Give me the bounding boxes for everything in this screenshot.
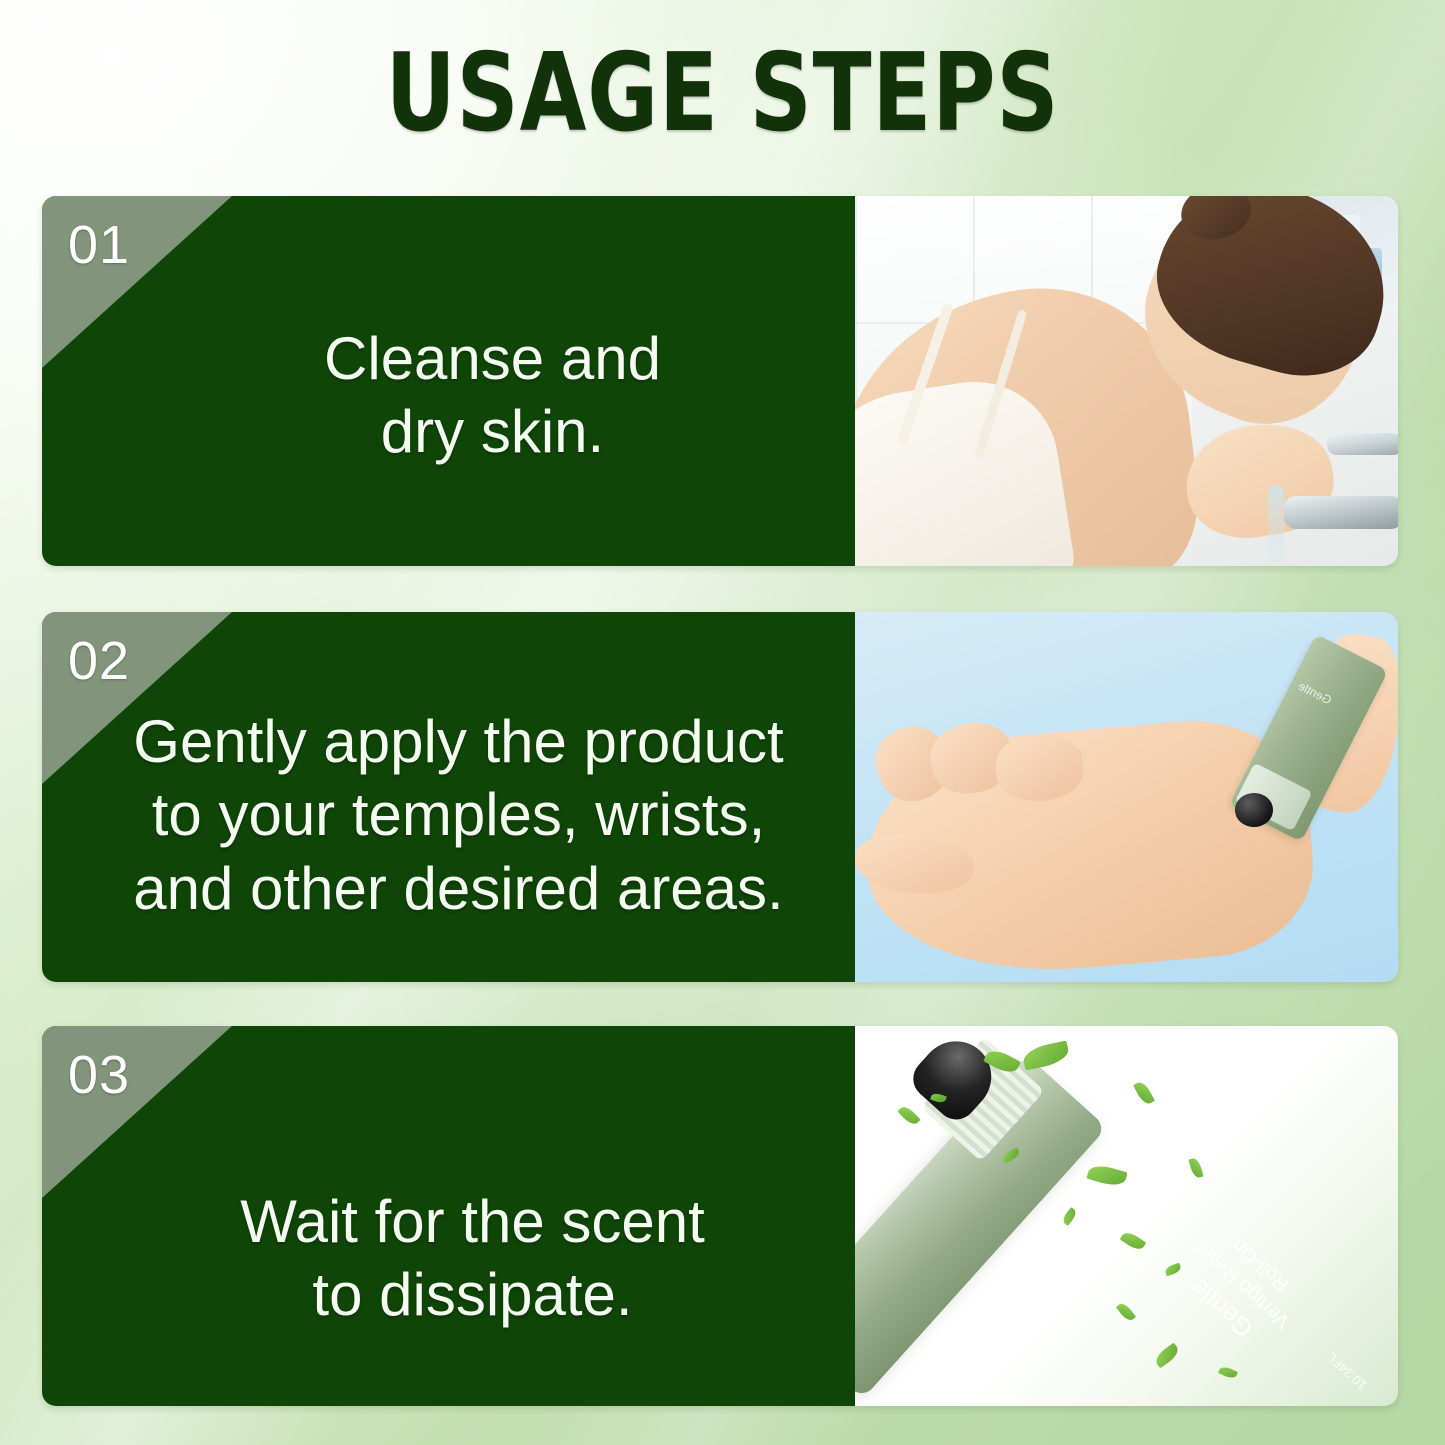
step-2-line-2: to your temples, wrists, xyxy=(133,778,783,851)
faucet-lower xyxy=(1284,496,1398,529)
leaf-12 xyxy=(1152,1343,1181,1369)
leaf-4 xyxy=(1133,1079,1155,1106)
step-2-instruction: Gently apply the product to your temples… xyxy=(105,705,811,925)
step-1-number: 01 xyxy=(68,214,130,276)
usage-step-card-3: 03 Wait for the scent to dissipate. Gent… xyxy=(42,1026,1398,1406)
leaf-14 xyxy=(1218,1365,1238,1381)
rollon-ball-applicator xyxy=(1235,793,1273,826)
bottle-label-volume: 10.34FL xyxy=(1324,1350,1369,1393)
step-2-line-3: and other desired areas. xyxy=(133,852,783,925)
step-3-line-2: to dissipate. xyxy=(240,1258,705,1331)
leaf-9 xyxy=(1120,1229,1147,1252)
step-3-text-panel: 03 Wait for the scent to dissipate. xyxy=(42,1026,855,1406)
leaf-6 xyxy=(1087,1162,1128,1189)
step-1-text-panel: 01 Cleanse and dry skin. xyxy=(42,196,855,566)
faucet-upper xyxy=(1327,433,1398,455)
step-2-text-panel: 02 Gently apply the product to your temp… xyxy=(42,612,855,982)
step-3-instruction: Wait for the scent to dissipate. xyxy=(212,1185,733,1331)
woman-washing-face-photo xyxy=(855,196,1398,566)
step-2-number: 02 xyxy=(68,630,130,692)
applying-rollon-to-hand-photo: Gentle xyxy=(855,612,1398,982)
step-2-line-1: Gently apply the product xyxy=(133,705,783,778)
leaf-11 xyxy=(1116,1301,1136,1323)
step-1-line-1: Cleanse and xyxy=(324,322,661,395)
step-1-line-2: dry skin. xyxy=(324,395,661,468)
usage-step-card-2: 02 Gently apply the product to your temp… xyxy=(42,612,1398,982)
usage-step-card-1: 01 Cleanse and dry skin. xyxy=(42,196,1398,566)
leaf-7 xyxy=(1189,1157,1204,1179)
leaf-2 xyxy=(1022,1040,1071,1070)
water-stream xyxy=(1268,485,1284,566)
leaf-3 xyxy=(898,1103,921,1126)
bottle-label: Gentle Vertigo Relief Roll-On xyxy=(1167,1214,1314,1359)
step-1-instruction: Cleanse and dry skin. xyxy=(296,322,689,468)
leaf-8 xyxy=(1061,1207,1079,1226)
rollon-bottle-with-leaves-photo: Gentle Vertigo Relief Roll-On 10.34FL xyxy=(855,1026,1398,1406)
page-title: USAGE STEPS xyxy=(145,40,1301,148)
step-3-number: 03 xyxy=(68,1044,130,1106)
step-3-line-1: Wait for the scent xyxy=(240,1185,705,1258)
